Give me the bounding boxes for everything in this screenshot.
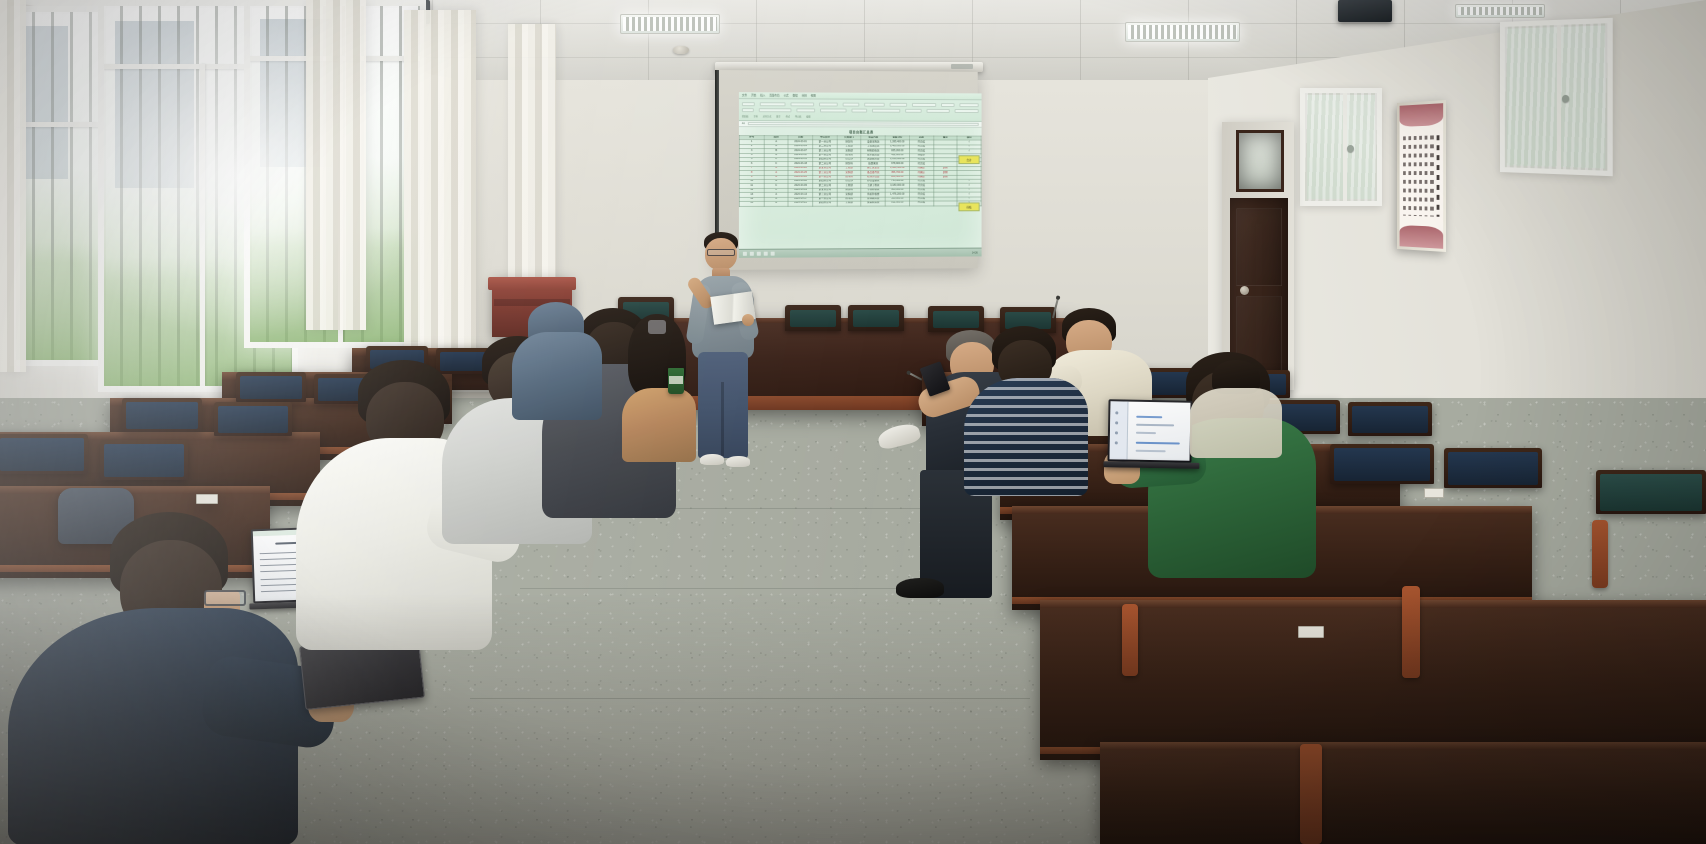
window-right-2 xyxy=(1500,18,1613,176)
armrest-right-5 xyxy=(1300,744,1322,844)
ribbon-tab-7[interactable]: 视图 xyxy=(811,94,816,98)
chair-left-b5[interactable] xyxy=(122,398,202,432)
chair-left-b7[interactable] xyxy=(0,434,88,474)
projected-spreadsheet: 文件 开始 插入 页面布局 公式 数据 审阅 视图 xyxy=(739,92,982,258)
chair-right-b5[interactable] xyxy=(1330,444,1434,484)
curtain-left-a xyxy=(0,0,26,372)
spreadsheet-grid-area[interactable]: 项目台账汇总表 序号类别日期单位名称负责部门项目内容金额 (元)状态备注核对 1… xyxy=(739,127,982,249)
presenter-shoe-left xyxy=(700,454,724,465)
ribbon-group-2: 对齐方式 xyxy=(763,114,772,118)
armrest-right-4 xyxy=(1592,520,1608,588)
chair-right-b6[interactable] xyxy=(1444,448,1542,488)
ribbon-group-5: 单元格 xyxy=(795,114,801,118)
attendee-back-right xyxy=(1190,360,1286,460)
poster-border-top xyxy=(1400,103,1444,127)
ceiling-light-fixture-1 xyxy=(620,14,720,34)
laptop-right-screen[interactable] xyxy=(1110,401,1191,460)
chair-left-b8[interactable] xyxy=(100,440,188,480)
bench-right-row-0 xyxy=(1100,742,1706,844)
smoke-detector xyxy=(673,46,689,54)
ribbon-tab-5[interactable]: 数据 xyxy=(793,93,798,97)
cell-r14-c7[interactable]: 已完成 xyxy=(909,201,933,205)
formula-input[interactable] xyxy=(748,122,979,126)
cell-r14-c1[interactable]: B xyxy=(764,201,788,205)
curtain-left-c xyxy=(404,10,476,358)
ribbon-group-6: 编辑 xyxy=(806,114,810,118)
ribbon-group-3: 数字 xyxy=(776,114,780,118)
windows-taskbar[interactable]: 14:26 xyxy=(739,248,982,258)
cell-r14-c2[interactable]: 2024-04-21 xyxy=(788,201,812,205)
highlighted-cell-1[interactable]: 待核 xyxy=(958,202,979,211)
wall-speaker-right xyxy=(1338,0,1392,22)
cell-r14-c5[interactable]: 安装调试费 xyxy=(861,201,885,205)
poster-text-columns xyxy=(1403,135,1440,216)
chair-right-b4[interactable] xyxy=(1348,402,1432,436)
ceiling-light-fixture-2 xyxy=(1125,22,1240,42)
door-transom-window xyxy=(1236,130,1284,192)
seat-plate-l2 xyxy=(196,494,218,504)
attendee-striped-body xyxy=(964,378,1088,496)
attendee-phone-shoe xyxy=(896,578,944,598)
laptop-right-app-sidebar[interactable] xyxy=(1110,401,1129,459)
attendee-long-hair xyxy=(618,314,700,464)
window-right-1 xyxy=(1300,88,1382,206)
cell-r14-c6[interactable]: 812,600.00 xyxy=(885,201,909,205)
presenter-glasses xyxy=(707,249,735,256)
ribbon-group-4: 样式 xyxy=(786,114,790,118)
table-row[interactable]: 15B2024-04-21第四分公司工程部安装调试费812,600.00已完成√ xyxy=(739,201,981,206)
presenter-right-hand xyxy=(742,314,754,326)
highlighted-cell-0[interactable]: 合计 xyxy=(958,155,979,164)
attendee-striped-polo xyxy=(964,326,1092,498)
wall-calligraphy-poster xyxy=(1397,100,1446,252)
cell-r14-c4[interactable]: 工程部 xyxy=(837,201,861,205)
ribbon-tab-3[interactable]: 页面布局 xyxy=(769,93,779,97)
ribbon-group-1: 字体 xyxy=(753,114,757,118)
presenter-shoe-right xyxy=(726,456,750,467)
front-chair-3[interactable] xyxy=(848,305,904,331)
classroom-scene: 文件 开始 插入 页面布局 公式 数据 审阅 视图 xyxy=(0,0,1706,844)
presenter-pants-seam xyxy=(721,382,724,456)
spreadsheet-ribbon: 剪贴板 字体 对齐方式 数字 样式 单元格 编辑 xyxy=(739,99,982,122)
front-chair-2[interactable] xyxy=(785,305,841,331)
door-knob-icon[interactable] xyxy=(1240,286,1249,295)
spreadsheet-table[interactable]: 序号类别日期单位名称负责部门项目内容金额 (元)状态备注核对 1A2024-03… xyxy=(739,135,982,206)
seat-plate-r2 xyxy=(1424,488,1444,498)
ribbon-tab-1[interactable]: 开始 xyxy=(751,93,756,97)
attendee-blue-hoodie xyxy=(510,302,606,422)
attendee-long-hair-top xyxy=(622,388,696,462)
poster-border-bottom xyxy=(1400,225,1444,249)
ceiling-light-fixture-3 xyxy=(1455,4,1545,18)
browser-icon[interactable] xyxy=(771,252,775,256)
attendee-hoodie-body xyxy=(512,332,602,420)
ribbon-tab-0[interactable]: 文件 xyxy=(742,93,747,97)
laptop-right[interactable] xyxy=(1107,399,1192,462)
beverage-cup[interactable] xyxy=(668,368,684,394)
ribbon-tab-4[interactable]: 公式 xyxy=(783,93,788,97)
attendee-back-right-body xyxy=(1190,388,1282,458)
polo-stripes xyxy=(964,378,1088,496)
cell-r14-c8[interactable] xyxy=(933,201,957,205)
attendee-long-hair-clip xyxy=(648,320,666,334)
seat-plate-r1 xyxy=(1298,626,1324,638)
name-box[interactable]: A1 xyxy=(742,122,745,125)
cell-r14-c0[interactable]: 15 xyxy=(739,201,764,205)
chair-right-b7[interactable] xyxy=(1596,470,1706,514)
ribbon-group-0: 剪贴板 xyxy=(742,114,749,118)
bench-right-row-1 xyxy=(1040,600,1706,760)
ribbon-tab-2[interactable]: 插入 xyxy=(760,93,765,97)
armrest-right-2 xyxy=(1402,586,1420,678)
chair-left-b6[interactable] xyxy=(214,402,292,436)
attendee-navy-polo-glasses xyxy=(204,590,246,606)
taskbar-clock: 14:26 xyxy=(972,251,978,254)
armrest-right-3 xyxy=(1122,604,1138,676)
ribbon-tab-6[interactable]: 审阅 xyxy=(802,93,807,97)
cell-r14-c3[interactable]: 第四分公司 xyxy=(813,201,837,205)
curtain-left-b xyxy=(306,0,366,330)
